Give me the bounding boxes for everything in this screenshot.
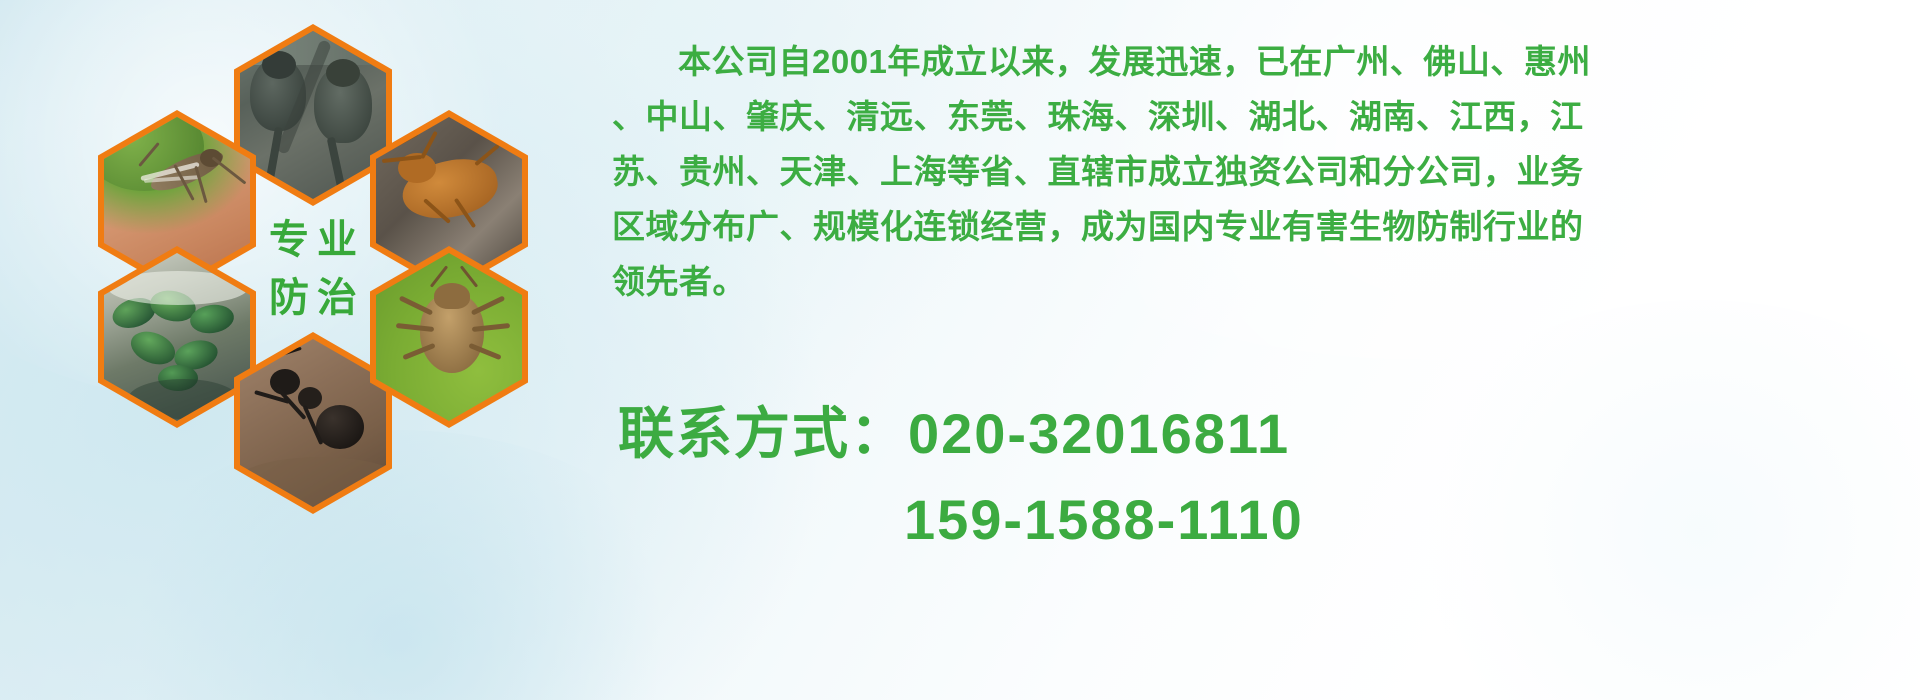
flies-photo: [104, 253, 250, 421]
contact-phone-secondary[interactable]: 159-1588-1110: [618, 484, 1918, 556]
rats-photo: [240, 31, 386, 199]
promo-banner: 专业 防治 本公司自2001年成立以来，发展迅速，已在广州、佛山、惠州 、中山、…: [0, 0, 1920, 700]
hex-image-stink-bug: [376, 253, 522, 421]
contact-block: 联系方式：020-32016811 159-1588-1110: [618, 398, 1918, 556]
slogan-line-2: 防治: [261, 269, 365, 327]
hex-cell-slogan: 专业 防治: [234, 178, 392, 360]
hex-image-ant: [240, 339, 386, 507]
stink-bug-photo: [376, 253, 522, 421]
slogan-line-1: 专业: [261, 211, 365, 269]
honeycomb-gallery: 专业 防治: [88, 10, 588, 570]
hex-image-flies: [104, 253, 250, 421]
intro-line-3: 苏、贵州、天津、上海等省、直辖市成立独资公司和分公司，业务: [612, 144, 1920, 199]
contact-phone-primary[interactable]: 联系方式：020-32016811: [618, 398, 1918, 470]
intro-line-5: 领先者。: [612, 254, 1920, 309]
hex-cell-flies[interactable]: [98, 246, 256, 428]
intro-line-2: 、中山、肇庆、清远、东莞、珠海、深圳、湖北、湖南、江西，江: [612, 89, 1920, 144]
ant-photo: [240, 339, 386, 507]
intro-line-4: 区域分布广、规模化连锁经营，成为国内专业有害生物防制行业的: [612, 199, 1920, 254]
hex-cell-stink-bug[interactable]: [370, 246, 528, 428]
company-intro: 本公司自2001年成立以来，发展迅速，已在广州、佛山、惠州 、中山、肇庆、清远、…: [612, 34, 1920, 309]
intro-line-1: 本公司自2001年成立以来，发展迅速，已在广州、佛山、惠州: [612, 34, 1920, 89]
hex-image-rats: [240, 31, 386, 199]
